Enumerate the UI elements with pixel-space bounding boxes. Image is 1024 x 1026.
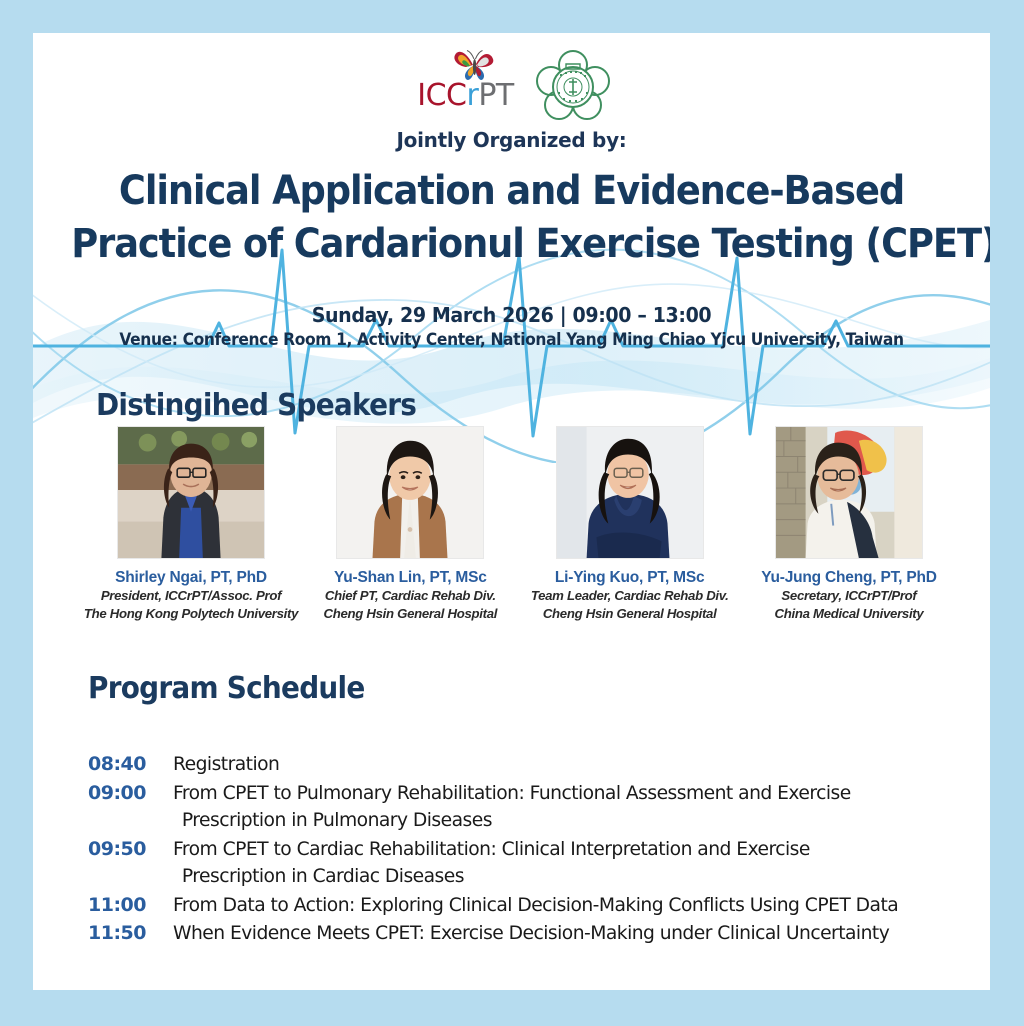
schedule-description-line2: Prescription in Cardiac Diseases (173, 863, 956, 891)
schedule-row: 11:00 From Data to Action: Exploring Cli… (88, 892, 968, 920)
speaker-role: President, ICCrPT/Assoc. Prof (101, 587, 281, 605)
schedule-description-line1: When Evidence Meets CPET: Exercise Decis… (173, 922, 889, 944)
title-line-1: Clinical Application and Evidence-Based (71, 165, 951, 218)
speaker-org: The Hong Kong Polytech University (84, 605, 298, 623)
speaker-org: Cheng Hsin General Hospital (543, 605, 717, 623)
plum-blossom-seal-icon (536, 47, 610, 123)
poster-card: ICCrPT (33, 33, 990, 990)
program-schedule-list: 08:40 Registration 09:00 From CPET to Pu… (88, 751, 968, 949)
speaker-photo-3 (556, 426, 704, 559)
speaker-photo-1 (117, 426, 265, 559)
schedule-description-line1: From CPET to Cardiac Rehabilitation: Cli… (173, 838, 810, 860)
speaker-role: Secretary, ICCrPT/Prof (781, 587, 916, 605)
event-venue: Venue: Conference Room 1, Activity Cente… (62, 330, 962, 349)
program-heading: Program Schedule (88, 671, 365, 706)
schedule-time: 08:40 (88, 751, 173, 775)
speaker-org: China Medical University (775, 605, 924, 623)
schedule-description: When Evidence Meets CPET: Exercise Decis… (173, 920, 956, 948)
schedule-row: 11:50 When Evidence Meets CPET: Exercise… (88, 920, 968, 948)
iccrpt-word-icc: ICC (417, 78, 466, 113)
speaker-card: Shirley Ngai, PT, PhD President, ICCrPT/… (85, 426, 297, 623)
schedule-description: From Data to Action: Exploring Clinical … (173, 892, 956, 920)
speaker-name: Yu-Jung Cheng, PT, PhD (761, 569, 937, 587)
poster-frame: ICCrPT (0, 0, 1024, 1026)
schedule-time: 11:00 (88, 892, 173, 916)
speaker-role: Chief PT, Cardiac Rehab Div. (325, 587, 496, 605)
schedule-time: 11:50 (88, 920, 173, 944)
iccrpt-word-pt: PT (478, 78, 513, 113)
iccrpt-word-r: r (466, 78, 478, 113)
speaker-name: Li-Ying Kuo, PT, MSc (555, 569, 705, 587)
speaker-role: Team Leader, Cardiac Rehab Div. (531, 587, 729, 605)
schedule-description: From CPET to Cardiac Rehabilitation: Cli… (173, 836, 956, 891)
poster-title: Clinical Application and Evidence-Based … (33, 165, 990, 271)
event-date-time: Sunday, 29 March 2026 | 09:00 – 13:00 (57, 303, 966, 327)
iccrpt-wordmark: ICCrPT (414, 81, 518, 111)
speaker-card: Yu-Shan Lin, PT, MSc Chief PT, Cardiac R… (304, 426, 516, 623)
speaker-name: Yu-Shan Lin, PT, MSc (334, 569, 487, 587)
schedule-description-line1: From Data to Action: Exploring Clinical … (173, 894, 898, 916)
speaker-card: Li-Ying Kuo, PT, MSc Team Leader, Cardia… (524, 426, 736, 623)
jointly-organized-label: Jointly Organized by: (33, 128, 990, 152)
speaker-photo-4 (775, 426, 923, 559)
schedule-time: 09:00 (88, 780, 173, 804)
title-line-2: Practice of Cardarionul Exercise Testing… (71, 218, 951, 271)
schedule-row: 09:00 From CPET to Pulmonary Rehabilitat… (88, 780, 968, 835)
schedule-time: 09:50 (88, 836, 173, 860)
iccrpt-logo: ICCrPT (414, 45, 518, 127)
speakers-row: Shirley Ngai, PT, PhD President, ICCrPT/… (85, 426, 955, 623)
schedule-description-line2: Prescription in Pulmonary Diseases (173, 807, 956, 835)
speaker-name: Shirley Ngai, PT, PhD (115, 569, 267, 587)
schedule-description: Registration (173, 751, 956, 779)
speaker-org: Cheng Hsin General Hospital (324, 605, 498, 623)
schedule-row: 08:40 Registration (88, 751, 968, 779)
speaker-card: Yu-Jung Cheng, PT, PhD Secretary, ICCrPT… (743, 426, 955, 623)
speakers-heading: Distingihed Speakers (96, 388, 416, 423)
logo-row: ICCrPT (33, 45, 990, 127)
schedule-description-line1: Registration (173, 753, 279, 775)
schedule-row: 09:50 From CPET to Cardiac Rehabilitatio… (88, 836, 968, 891)
schedule-description: From CPET to Pulmonary Rehabilitation: F… (173, 780, 956, 835)
event-details: Sunday, 29 March 2026 | 09:00 – 13:00 Ve… (33, 303, 990, 349)
schedule-description-line1: From CPET to Pulmonary Rehabilitation: F… (173, 782, 851, 804)
speaker-photo-2 (336, 426, 484, 559)
